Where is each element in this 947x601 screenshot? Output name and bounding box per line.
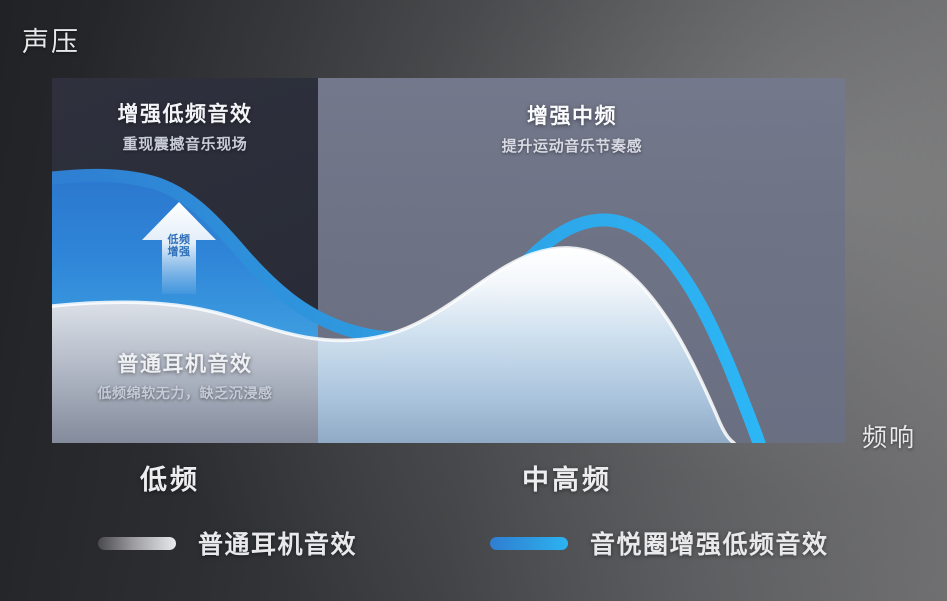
- bass-boost-arrow-label-line1: 低频: [140, 234, 218, 246]
- bass-boost-arrow-label-line2: 增强: [140, 246, 218, 258]
- caption-ordinary-earphone: 普通耳机音效 低频绵软无力，缺乏沉浸感: [60, 348, 310, 403]
- caption-enhanced-mid: 增强中频 提升运动音乐节奏感: [382, 100, 762, 156]
- band-label-low-frequency: 低频: [140, 458, 200, 497]
- x-axis-label: 频响: [862, 418, 916, 454]
- caption-enhanced-mid-subtitle: 提升运动音乐节奏感: [382, 135, 762, 156]
- caption-enhanced-mid-title: 增强中频: [382, 100, 762, 130]
- caption-ordinary-earphone-subtitle: 低频绵软无力，缺乏沉浸感: [60, 383, 310, 403]
- bass-boost-arrow-label: 低频 增强: [140, 234, 218, 259]
- bass-boost-arrow-badge: 低频 增强: [140, 200, 218, 294]
- y-axis-label: 声压: [22, 20, 80, 59]
- caption-ordinary-earphone-title: 普通耳机音效: [60, 348, 310, 378]
- chart-plot-area: 低频 增强 增强低频音效 重现震撼音乐现场 增强中频 提升运动音乐节奏感 普通耳…: [52, 78, 845, 443]
- legend-item-ordinary: 普通耳机音效: [98, 525, 357, 561]
- band-label-high-frequency: 中高频: [522, 458, 612, 497]
- legend-swatch-enhanced: [490, 537, 568, 550]
- caption-enhanced-bass-subtitle: 重现震撼音乐现场: [60, 133, 310, 154]
- legend-swatch-ordinary: [98, 537, 176, 550]
- caption-enhanced-bass: 增强低频音效 重现震撼音乐现场: [60, 98, 310, 154]
- legend-item-enhanced: 音悦圈增强低频音效: [490, 525, 829, 561]
- legend-label-ordinary: 普通耳机音效: [198, 525, 357, 561]
- caption-enhanced-bass-title: 增强低频音效: [60, 98, 310, 128]
- sound-pressure-frequency-response-figure: 声压 频响: [0, 0, 947, 601]
- chart-legend: 普通耳机音效 音悦圈增强低频音效: [0, 525, 947, 573]
- legend-label-enhanced: 音悦圈增强低频音效: [590, 525, 829, 561]
